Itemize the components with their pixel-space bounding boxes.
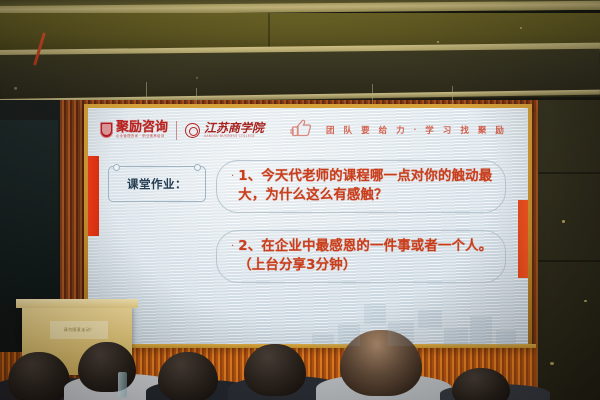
logo-secondary-text: 江苏商学院 JIANGSU BUSINESS COLLEGE — [204, 122, 264, 139]
slide-accent-bar-left — [88, 156, 99, 236]
logo-secondary-subtitle: JIANGSU BUSINESS COLLEGE — [204, 134, 264, 139]
wall-speck — [562, 220, 565, 223]
slogan-char: 团 — [326, 124, 335, 136]
question-text: 2、在企业中最感恩的一件事或者一个人。（上台分享3分钟） — [238, 237, 495, 275]
decor-square — [312, 334, 334, 346]
logo-secondary-name: 江苏商学院 — [204, 122, 264, 134]
slogan-separator: · — [414, 126, 417, 134]
thumbs-up-icon — [290, 118, 312, 142]
logo-primary-text: 聚励咨询 企业管理咨询 · 职业素养培训 — [116, 121, 168, 139]
section-label-box: 课堂作业： — [108, 166, 206, 202]
decor-square — [338, 324, 360, 346]
question-text: 1、今天代老师的课程哪一点对你的触动最大，为什么这么有感触？ — [238, 167, 495, 205]
slogan-char: 励 — [495, 124, 504, 136]
slogan-char: 给 — [379, 124, 388, 136]
ceiling-speck — [520, 27, 522, 29]
section-label-text: 课堂作业： — [127, 176, 187, 192]
wall-speck — [584, 300, 587, 302]
slide-accent-bar-right — [518, 200, 528, 278]
slogan-char: 队 — [344, 124, 353, 136]
wall-speck — [550, 362, 554, 365]
logo-primary-name: 聚励咨询 — [116, 121, 168, 134]
projection-screen-frame: 聚励咨询 企业管理咨询 · 职业素养培训 江苏商学院 JIANGSU BUSIN… — [84, 104, 532, 350]
question-bubble-2: · 2、在企业中最感恩的一件事或者一个人。（上台分享3分钟） — [216, 230, 506, 283]
shield-emblem-icon — [100, 122, 113, 138]
audience-head — [158, 352, 218, 400]
logo-primary: 聚励咨询 企业管理咨询 · 职业素养培训 — [100, 121, 168, 139]
projection-screen-surface: 聚励咨询 企业管理咨询 · 职业素养培训 江苏商学院 JIANGSU BUSIN… — [88, 108, 528, 346]
slide-slogan: 团 队 要 给 力 · 学 习 找 聚 励 — [326, 124, 504, 136]
decor-square — [388, 322, 414, 346]
soffit-speck — [196, 77, 198, 79]
shield-emblem-inner — [102, 124, 111, 135]
audience-head — [78, 342, 136, 392]
decor-square — [444, 328, 468, 346]
wall-teal-panel — [0, 120, 58, 305]
circular-seal-icon — [185, 123, 200, 138]
logo-divider — [176, 121, 177, 140]
soffit-speck — [14, 87, 17, 90]
audience-head — [244, 344, 306, 396]
logo-primary-subtitle: 企业管理咨询 · 职业素养培训 — [116, 134, 168, 139]
decor-square — [418, 310, 442, 328]
water-bottle — [118, 372, 127, 398]
question-bubble-1: · 1、今天代老师的课程哪一点对你的触动最大，为什么这么有感触？ — [216, 160, 506, 213]
slogan-char: 学 — [425, 124, 434, 136]
decor-square — [470, 316, 492, 346]
slogan-char: 力 — [396, 124, 405, 136]
question-bullet: · — [231, 168, 234, 185]
question-bullet: · — [231, 238, 234, 255]
logo-secondary: 江苏商学院 JIANGSU BUSINESS COLLEGE — [185, 122, 264, 139]
slogan-char: 习 — [443, 124, 452, 136]
decor-square — [364, 304, 386, 324]
slogan-char: 要 — [361, 124, 370, 136]
decor-square — [496, 330, 516, 346]
presentation-slide: 聚励咨询 企业管理咨询 · 职业素养培训 江苏商学院 JIANGSU BUSIN… — [88, 108, 528, 346]
slogan-char: 找 — [460, 124, 469, 136]
slogan-char: 聚 — [478, 124, 487, 136]
lecture-hall-photo: 聚励咨询 企业管理咨询 · 职业素养培训 江苏商学院 JIANGSU BUSIN… — [0, 0, 600, 400]
slide-header: 聚励咨询 企业管理咨询 · 职业素养培训 江苏商学院 JIANGSU BUSIN… — [88, 108, 528, 152]
ceiling-speck — [437, 41, 439, 43]
